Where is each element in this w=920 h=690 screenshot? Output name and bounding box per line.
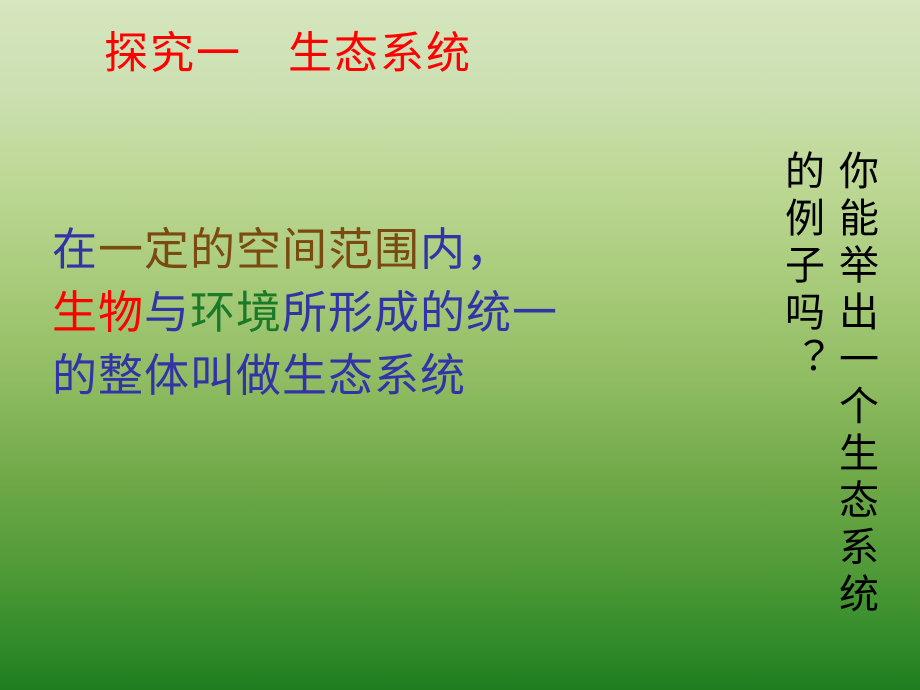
page-title: 探究一 生态系统 xyxy=(104,32,472,76)
question-column-1: 你能举出一个生态系统 xyxy=(832,150,878,620)
definition-segment-2: 一定的空间范围 xyxy=(98,223,420,276)
definition-segment-5: 与 xyxy=(144,286,190,339)
definition-paragraph: 在一定的空间范围内， 生物与环境所形成的统一的整体叫做生态系统 xyxy=(52,218,572,407)
slide-canvas: 探究一 生态系统 在一定的空间范围内， 生物与环境所形成的统一的整体叫做生态系统… xyxy=(0,0,920,690)
definition-segment-6: 环境 xyxy=(190,286,282,339)
question-column-2: 的例子吗？ xyxy=(778,150,824,385)
definition-segment-1: 在 xyxy=(52,223,98,276)
definition-segment-3: 内， xyxy=(420,223,536,276)
vertical-question-block: 的例子吗？ 你能举出一个生态系统 xyxy=(778,150,878,620)
definition-segment-4: 生物 xyxy=(52,286,144,339)
